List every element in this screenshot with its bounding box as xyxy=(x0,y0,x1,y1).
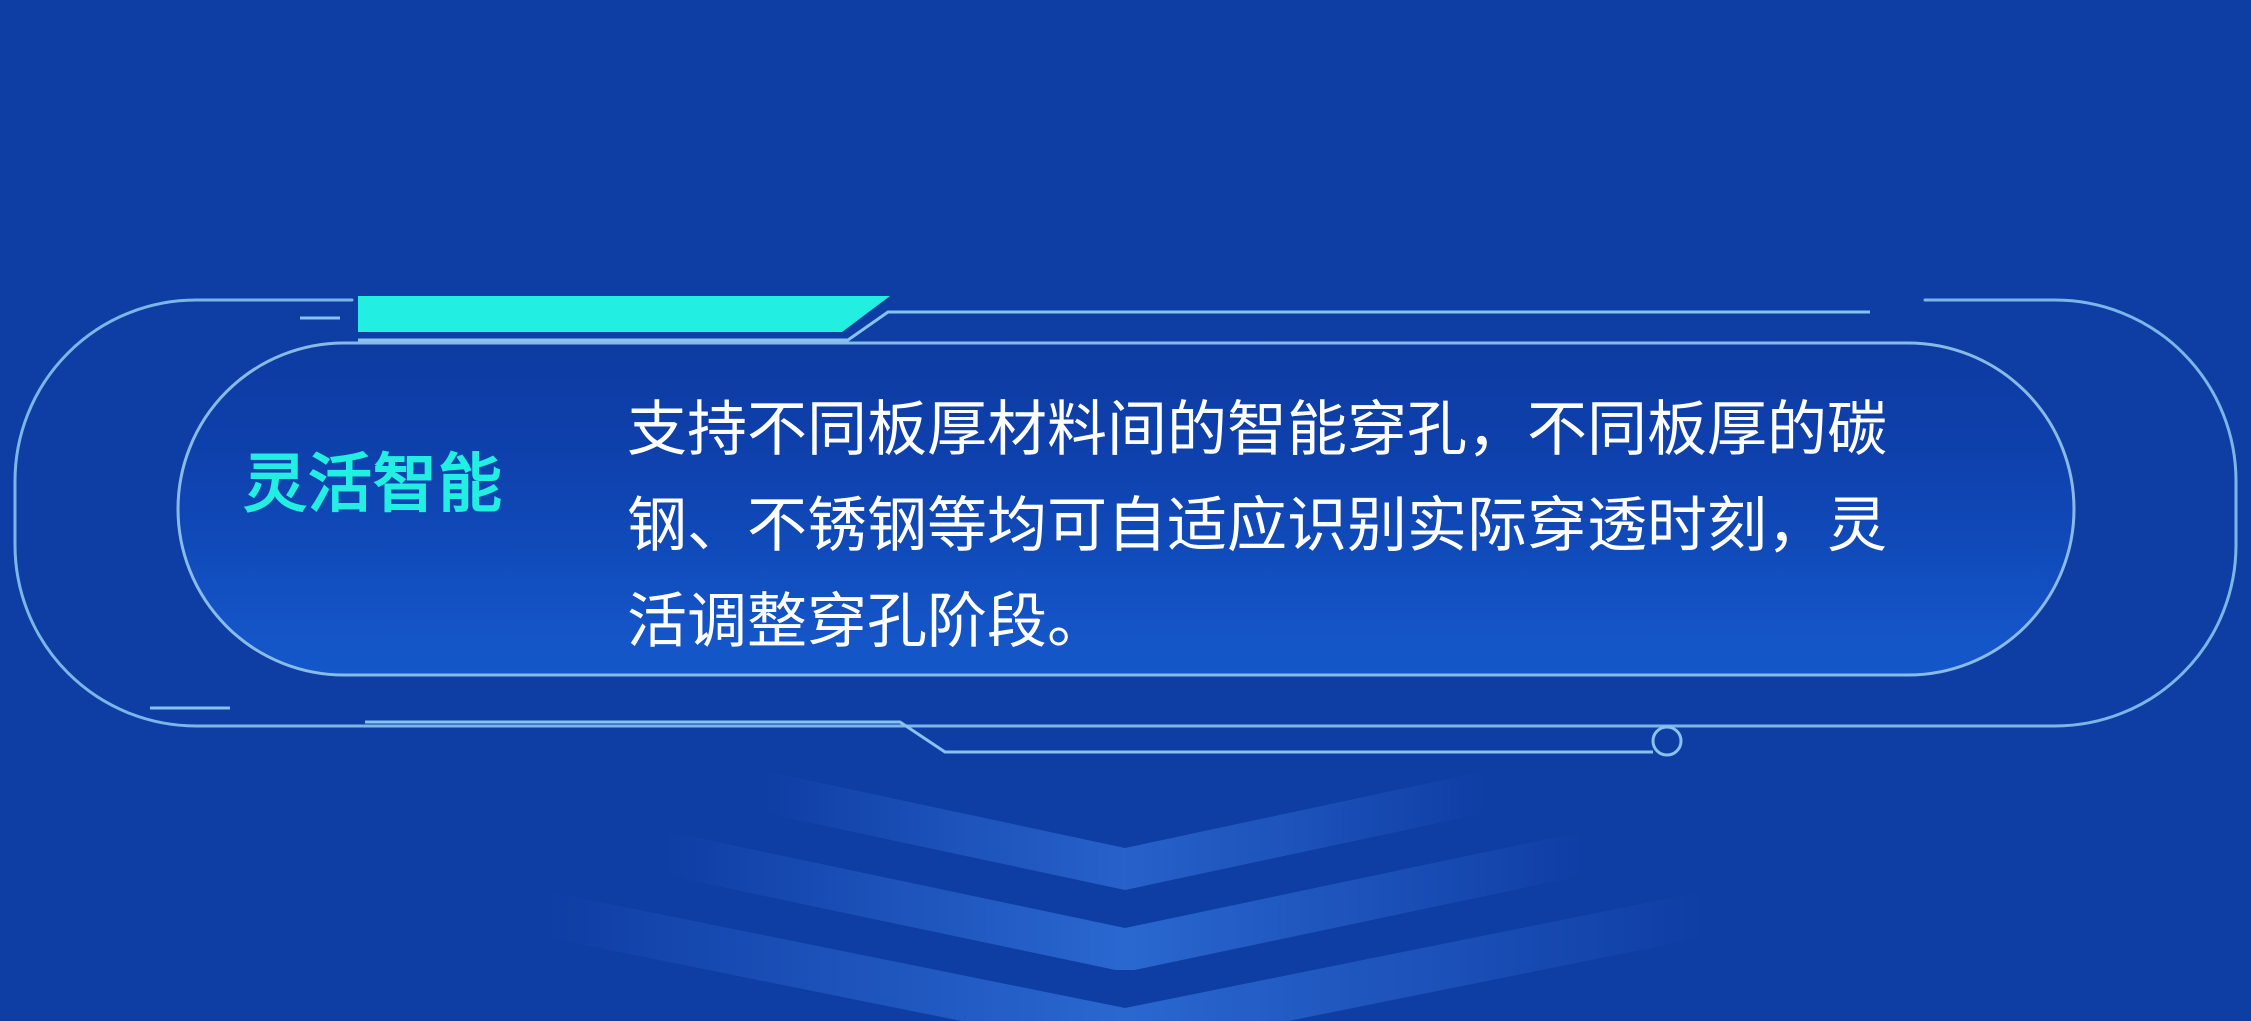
top-accent-bar xyxy=(358,296,890,332)
slide-canvas: 灵活智能 支持不同板厚材料间的智能穿孔，不同板厚的碳 钢、不锈钢等均可自适应识别… xyxy=(0,0,2251,1021)
bottom-rail-endpoint-circle xyxy=(1653,727,1681,755)
card-body: 支持不同板厚材料间的智能穿孔，不同板厚的碳 钢、不锈钢等均可自适应识别实际穿透时… xyxy=(627,382,2027,670)
body-line-3: 活调整穿孔阶段。 xyxy=(627,574,2027,670)
body-line-1: 支持不同板厚材料间的智能穿孔，不同板厚的碳 xyxy=(627,382,2027,478)
body-line-2: 钢、不锈钢等均可自适应识别实际穿透时刻，灵 xyxy=(627,478,2027,574)
card-title: 灵活智能 xyxy=(243,452,623,516)
